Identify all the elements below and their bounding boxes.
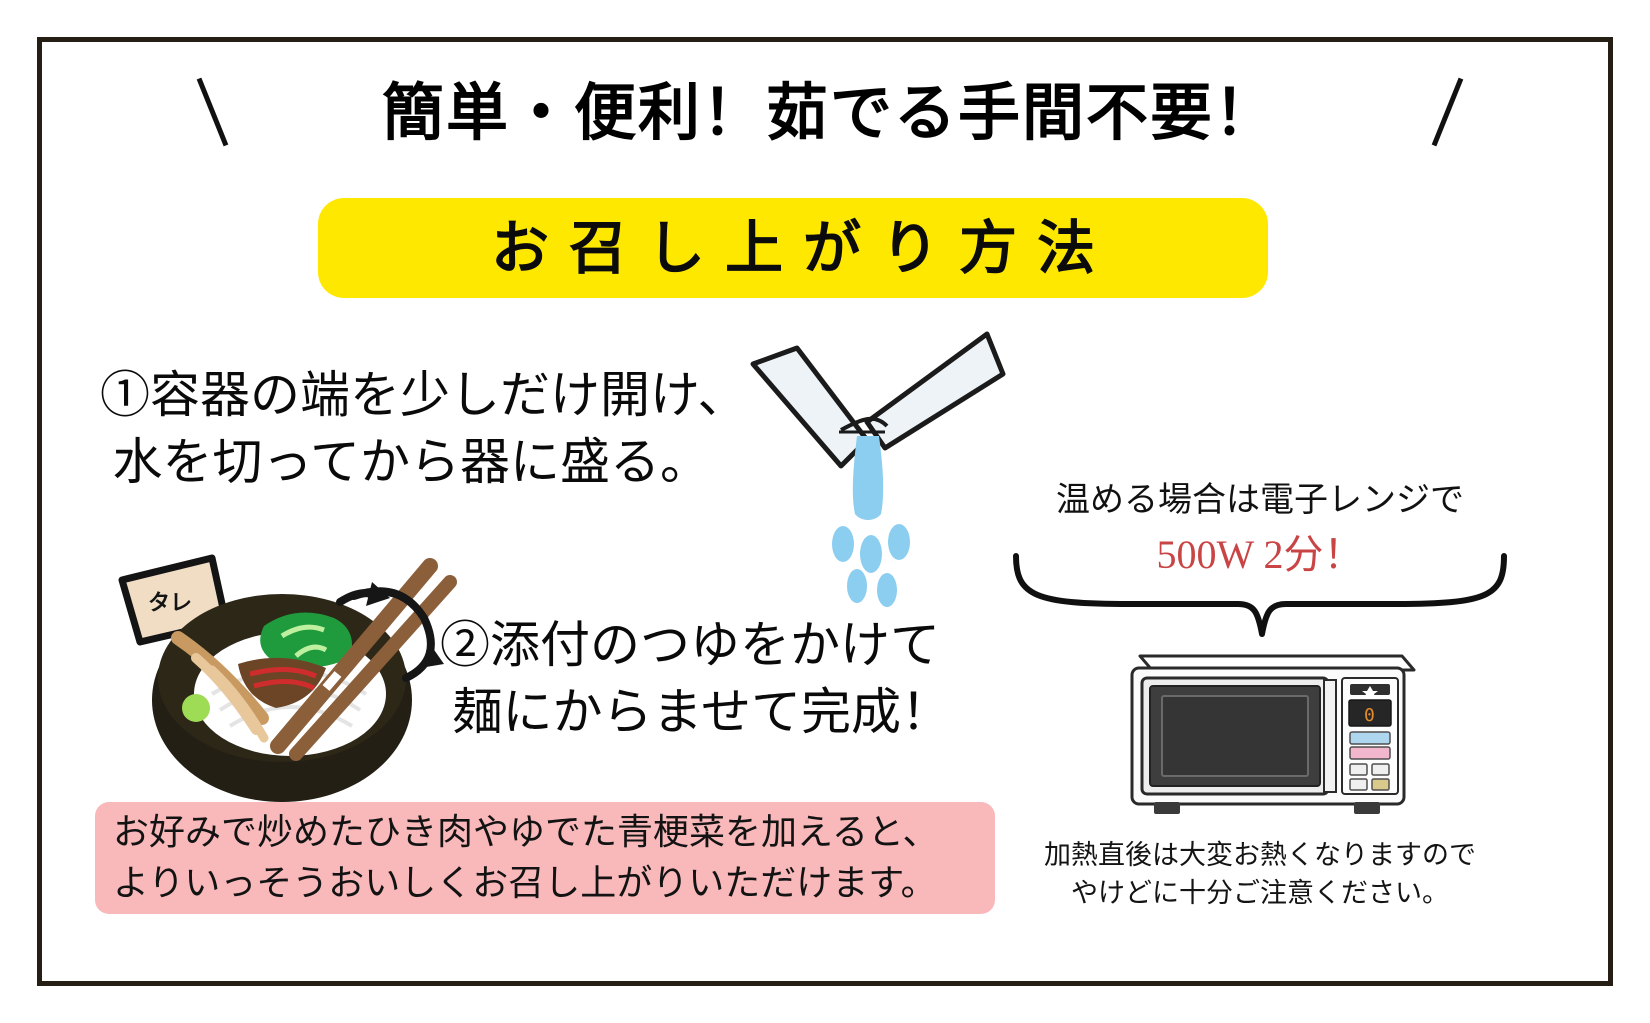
microwave-oven-icon: 0 [1118, 636, 1418, 832]
step-1-text: ①容器の端を少しだけ開け、 水を切ってから器に盛る。 [100, 362, 748, 496]
headline-text: 簡単・便利！茹でる手間不要！ [382, 82, 1278, 144]
headline-row: 簡単・便利！茹でる手間不要！ [180, 58, 1480, 168]
curly-brace-icon [1010, 552, 1510, 642]
note-line-2: よりいっそうおいしくお召し上がりいただけます。 [113, 858, 977, 909]
note-line-1: お好みで炒めたひき肉やゆでた青梗菜を加えると、 [113, 807, 977, 858]
draining-tray-icon [735, 318, 1005, 608]
section-title-text: お召し上がり方法 [471, 219, 1115, 277]
poster-root: 簡単・便利！茹でる手間不要！ お召し上がり方法 ①容器の端を少しだけ開け、 水を… [0, 0, 1650, 1023]
serving-suggestion-note: お好みで炒めたひき肉やゆでた青梗菜を加えると、 よりいっそうおいしくお召し上がり… [95, 802, 995, 914]
section-title-banner: お召し上がり方法 [318, 198, 1268, 298]
svg-text:0: 0 [1364, 705, 1375, 726]
decorative-slash-left-icon [197, 78, 229, 147]
warning-line-1: 加熱直後は大変お熱くなりますので [1000, 836, 1520, 874]
warning-line-2: やけどに十分ご注意ください。 [1000, 874, 1520, 912]
microwave-caption: 温める場合は電子レンジで [1000, 472, 1520, 521]
step-2-text: ②添付のつゆをかけて 麺にからませて完成！ [440, 612, 951, 746]
microwave-warning-text: 加熱直後は大変お熱くなりますので やけどに十分ご注意ください。 [1000, 836, 1520, 913]
noodle-bowl-icon: タレ [100, 518, 470, 810]
svg-text:タレ: タレ [148, 591, 192, 616]
decorative-slash-right-icon [1432, 78, 1464, 147]
